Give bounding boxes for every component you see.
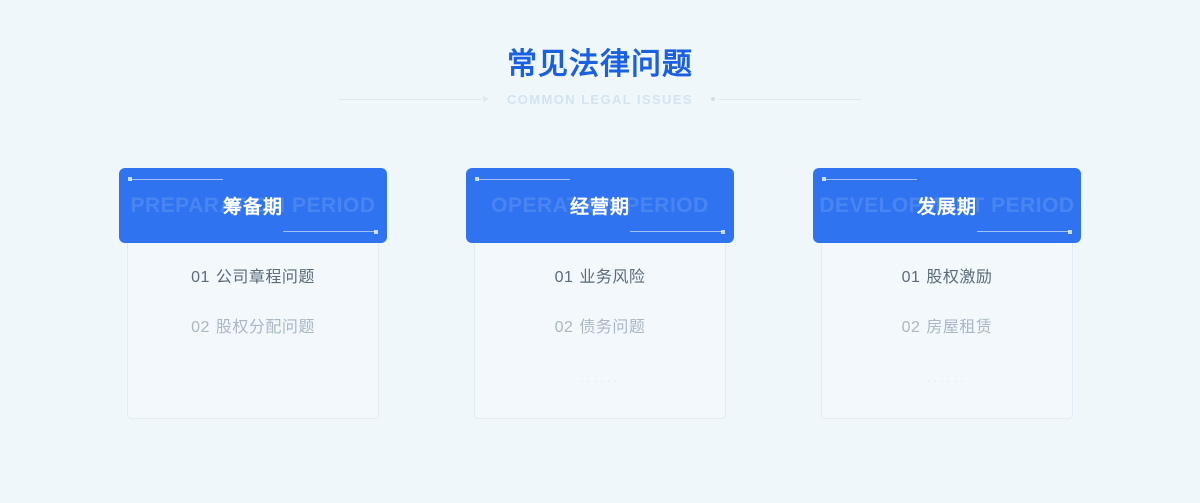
- corner-dot-bottom-right-icon: [721, 230, 725, 234]
- stage-card-header[interactable]: OPERATION PERIOD经营期: [466, 168, 734, 243]
- stage-card[interactable]: PREPARATION PERIOD筹备期01公司章程问题02股权分配问题: [119, 168, 387, 419]
- stage-card-title: 经营期: [570, 192, 630, 219]
- stage-card-body: 01公司章程问题02股权分配问题: [127, 241, 379, 419]
- page-root: 常见法律问题 COMMON LEGAL ISSUES PREPARATION P…: [0, 0, 1200, 503]
- stage-card-title: 发展期: [917, 192, 977, 219]
- card-list-item-index: 01: [902, 269, 921, 286]
- corner-line-bottom-right-icon: [977, 231, 1069, 232]
- card-list-item-label: ......: [927, 370, 967, 385]
- card-list-item-index: 02: [902, 319, 921, 336]
- card-list-item[interactable]: 02债务问题: [475, 315, 725, 341]
- corner-line-top-left-icon: [478, 179, 570, 180]
- corner-line-top-left-icon: [131, 179, 223, 180]
- corner-dot-bottom-right-icon: [374, 230, 378, 234]
- card-list-item[interactable]: 01股权激励: [822, 265, 1072, 291]
- corner-line-bottom-right-icon: [283, 231, 375, 232]
- stage-card-body: 01股权激励02房屋租赁......: [821, 241, 1073, 419]
- card-list-item-label: 债务问题: [579, 319, 645, 336]
- stage-card-body: 01业务风险02债务问题......: [474, 241, 726, 419]
- card-list-item[interactable]: ......: [475, 365, 725, 391]
- stage-card[interactable]: DEVELOPMENT PERIOD发展期01股权激励02房屋租赁......: [813, 168, 1081, 419]
- decorative-arrow-left-icon: [339, 95, 489, 105]
- stage-card-title: 筹备期: [223, 192, 283, 219]
- card-list-item[interactable]: 02房屋租赁: [822, 315, 1072, 341]
- card-list-item[interactable]: ......: [822, 365, 1072, 391]
- card-list-item-index: 02: [555, 319, 574, 336]
- corner-line-bottom-right-icon: [630, 231, 722, 232]
- subtitle-row: COMMON LEGAL ISSUES: [0, 92, 1200, 107]
- card-list-item-label: 股权分配问题: [216, 319, 315, 336]
- cards-row: PREPARATION PERIOD筹备期01公司章程问题02股权分配问题OPE…: [0, 168, 1200, 419]
- card-list-item-index: 02: [191, 319, 210, 336]
- page-title: 常见法律问题: [0, 44, 1200, 86]
- card-list-item[interactable]: 01业务风险: [475, 265, 725, 291]
- card-list-item[interactable]: 01公司章程问题: [128, 265, 378, 291]
- card-list-item-index: 01: [555, 269, 574, 286]
- stage-card-header[interactable]: PREPARATION PERIOD筹备期: [119, 168, 387, 243]
- card-list-item-label: 业务风险: [579, 269, 645, 286]
- card-list-item-label: 房屋租赁: [926, 319, 992, 336]
- card-list-item-index: 01: [191, 269, 210, 286]
- stage-card[interactable]: OPERATION PERIOD经营期01业务风险02债务问题......: [466, 168, 734, 419]
- page-subtitle: COMMON LEGAL ISSUES: [489, 92, 711, 107]
- decorative-line-right-icon: [711, 95, 861, 105]
- corner-line-top-left-icon: [825, 179, 917, 180]
- corner-dot-bottom-right-icon: [1068, 230, 1072, 234]
- card-list-item-label: 公司章程问题: [216, 269, 315, 286]
- stage-card-header[interactable]: DEVELOPMENT PERIOD发展期: [813, 168, 1081, 243]
- card-list-item-label: 股权激励: [926, 269, 992, 286]
- card-list-item[interactable]: 02股权分配问题: [128, 315, 378, 341]
- card-list-item-label: ......: [580, 370, 620, 385]
- section-heading: 常见法律问题 COMMON LEGAL ISSUES: [0, 0, 1200, 107]
